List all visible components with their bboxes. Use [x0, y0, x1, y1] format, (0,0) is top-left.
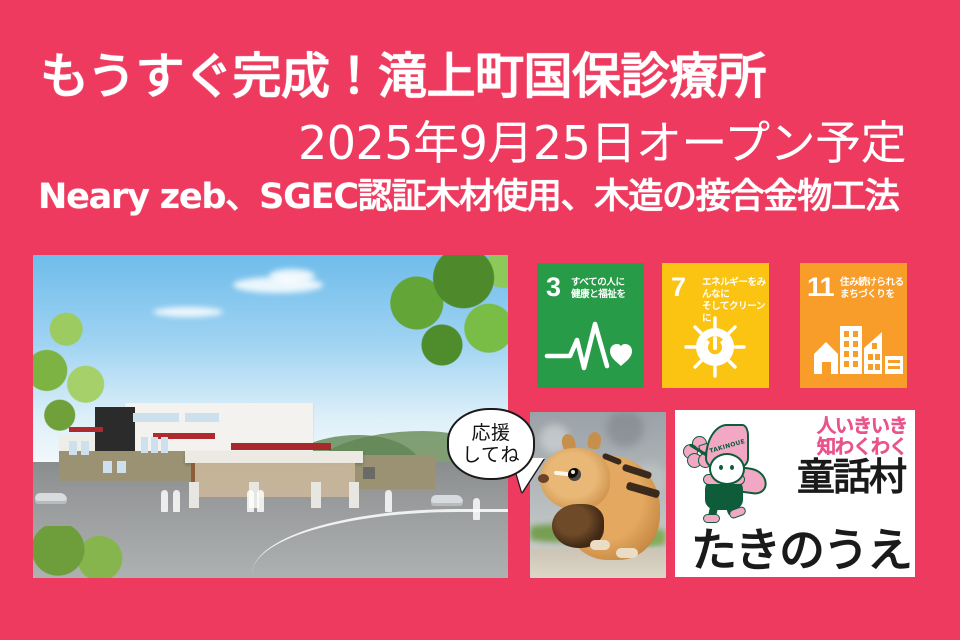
mascot-eye [719, 465, 723, 470]
clinic-render-photo [33, 255, 508, 578]
figure-person [385, 490, 392, 512]
window [103, 461, 112, 473]
figure-person [173, 490, 180, 512]
speech-bubble-line-1: 応援 [471, 422, 510, 444]
canopy-post [349, 482, 359, 508]
logo-word-takinoue: たきのうえ [691, 527, 911, 573]
speech-bubble-line-2: してね [462, 444, 520, 466]
sdg-label: 住み続けられる まちづくりを [840, 277, 904, 301]
figure-person [257, 490, 264, 512]
chipmunk-photo [530, 412, 666, 578]
sdg-number: 3 [546, 274, 560, 301]
sdg-goal-3[interactable]: 3 すべての人に 健康と福祉を [537, 263, 644, 388]
window [363, 467, 375, 479]
sdg-label: すべての人に 健康と福祉を [571, 277, 626, 301]
page-subtitle-line-3: Neary zeb、SGEC認証木材使用、木造の接合金物工法 [38, 180, 899, 215]
figure-person [247, 490, 254, 512]
road-marking [252, 509, 509, 574]
logo-word-doutokumura: 童話村 [797, 458, 905, 496]
window [117, 461, 126, 473]
cloud [269, 269, 315, 283]
logo-catchphrase: 人いきいき 知わくわく [817, 416, 907, 458]
sdg-goal-7[interactable]: 7 エネルギーをみんなに そしてクリーンに [662, 263, 769, 388]
sdg-goal-11[interactable]: 11 住み続けられる まちづくりを [800, 263, 907, 388]
bush [33, 526, 135, 578]
takinoue-mascot-icon: TAKINOUE [683, 424, 765, 520]
mascot-boot [703, 514, 720, 523]
window [161, 437, 168, 453]
mascot-face [709, 453, 745, 485]
page-title-line-2: 2025年9月25日オープン予定 [298, 120, 906, 166]
cloud [153, 307, 223, 317]
heartbeat-heart-icon [537, 314, 644, 380]
speech-bubble: 応援 してね [447, 408, 535, 480]
window [141, 437, 148, 453]
tree-right [334, 255, 508, 387]
sdg-number: 11 [807, 274, 834, 301]
figure-person [473, 498, 480, 520]
canopy-post [311, 482, 321, 508]
figure-person [161, 490, 168, 512]
town-logo[interactable]: 人いきいき 知わくわく TAKINOUE 童話村 [675, 410, 915, 577]
car [431, 495, 463, 506]
sdg-number: 7 [671, 274, 685, 301]
window [151, 437, 158, 453]
buildings-icon [800, 314, 907, 380]
window [133, 413, 179, 422]
poster-canvas: もうすぐ完成！滝上町国保診療所 2025年9月25日オープン予定 Neary z… [0, 0, 960, 640]
chipmunk-paw [590, 540, 610, 550]
sun-power-icon [662, 314, 769, 380]
mascot-eye [730, 465, 734, 470]
car [35, 493, 67, 504]
chipmunk-paw [616, 548, 638, 558]
tree-left [33, 281, 131, 453]
page-title-line-1: もうすぐ完成！滝上町国保診療所 [40, 52, 766, 101]
wooden-columns [191, 463, 355, 497]
window [185, 413, 219, 422]
chipmunk-eye [568, 468, 581, 481]
canopy-post [189, 482, 199, 508]
entrance-roof-red [231, 443, 331, 450]
entrance-canopy [185, 451, 363, 463]
